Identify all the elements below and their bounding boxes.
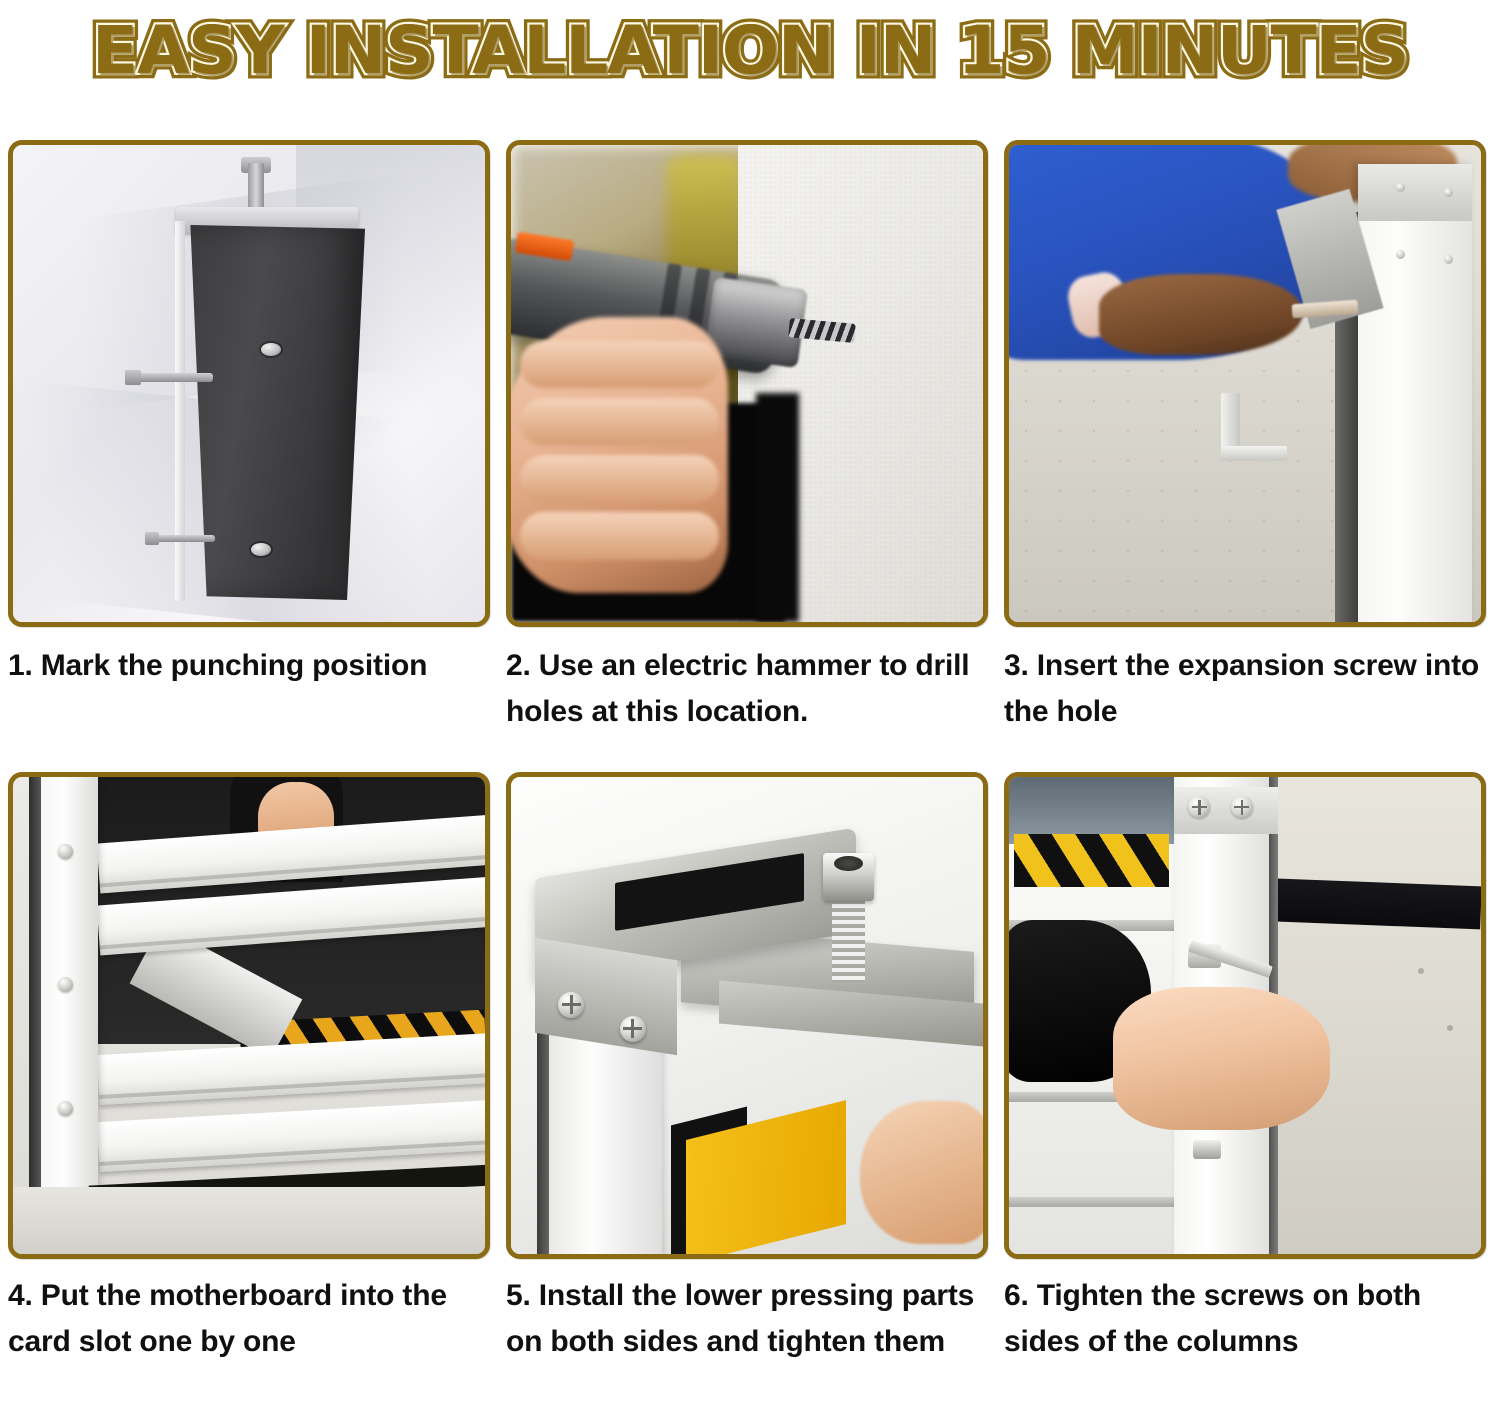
step-caption-3: 3. Insert the expansion screw into the h…: [1004, 643, 1484, 734]
step-caption-5: 5. Install the lower pressing parts on b…: [506, 1273, 986, 1364]
installation-guide-page: EASY INSTALLATION IN 15 MINUTES EASY INS…: [0, 0, 1500, 1403]
step-image-frame-1: [8, 140, 490, 627]
page-title-banner: EASY INSTALLATION IN 15 MINUTES EASY INS…: [0, 0, 1500, 100]
step-photo-6: [1009, 777, 1481, 1254]
step-card-6: 6. Tighten the screws on both sides of t…: [1004, 772, 1493, 1400]
step-card-2: 2. Use an electric hammer to drill holes…: [506, 140, 995, 772]
page-title-fill: EASY INSTALLATION IN 15 MINUTES: [92, 12, 1408, 89]
step-photo-5: [511, 777, 983, 1254]
step-card-5: 5. Install the lower pressing parts on b…: [506, 772, 995, 1400]
step-image-frame-2: [506, 140, 988, 627]
step-photo-3: [1009, 145, 1481, 622]
step-card-3: 3. Insert the expansion screw into the h…: [1004, 140, 1493, 772]
step-photo-1: [13, 145, 485, 622]
step-caption-6: 6. Tighten the screws on both sides of t…: [1004, 1273, 1484, 1364]
step-caption-1: 1. Mark the punching position: [8, 643, 488, 689]
steps-grid: 1. Mark the punching position: [8, 140, 1492, 1400]
step-photo-4: [13, 777, 485, 1254]
step-card-4: 4. Put the motherboard into the card slo…: [8, 772, 497, 1400]
step-caption-4: 4. Put the motherboard into the card slo…: [8, 1273, 488, 1364]
step-image-frame-6: [1004, 772, 1486, 1259]
step-image-frame-3: [1004, 140, 1486, 627]
step-card-1: 1. Mark the punching position: [8, 140, 497, 772]
step-photo-2: [511, 145, 983, 622]
step-image-frame-5: [506, 772, 988, 1259]
page-title: EASY INSTALLATION IN 15 MINUTES EASY INS…: [92, 12, 1408, 89]
step-caption-2: 2. Use an electric hammer to drill holes…: [506, 643, 986, 734]
step-image-frame-4: [8, 772, 490, 1259]
